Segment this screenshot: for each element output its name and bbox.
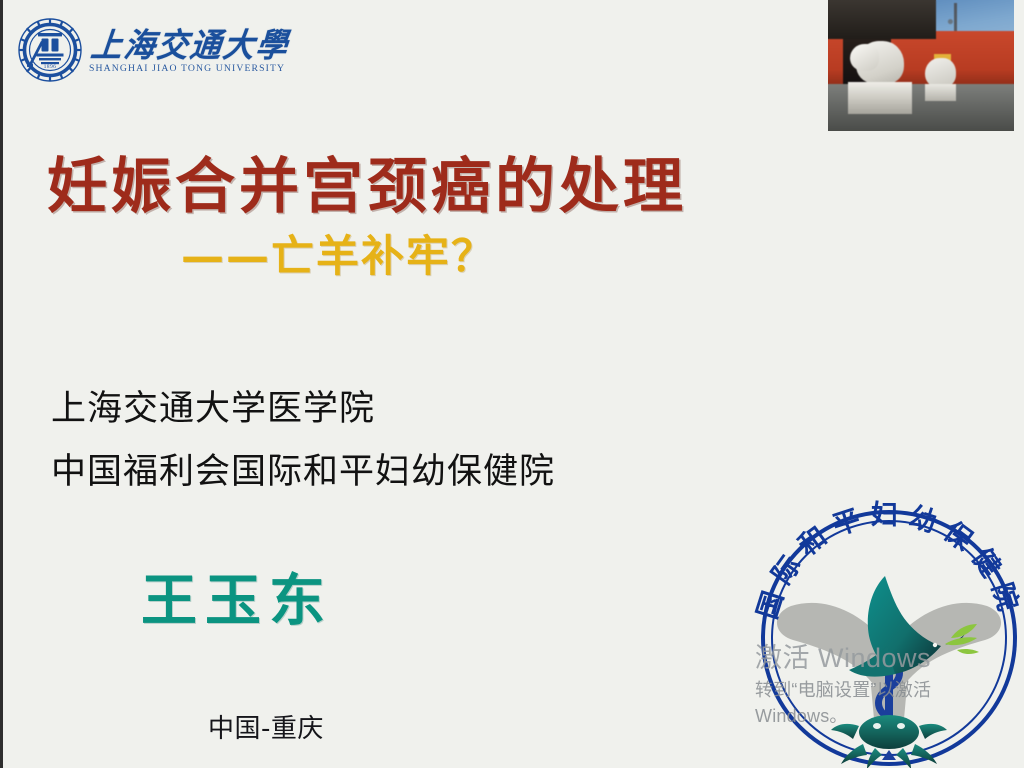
- university-name-cn: 上海交通大學: [89, 29, 291, 63]
- presentation-slide: 1896 上海交通大學 SHANGHAI JIAO TONG UNIVERSIT…: [0, 0, 1024, 768]
- temple-gate-stone-lions-photo: [828, 0, 1014, 131]
- svg-text:1896: 1896: [44, 64, 57, 70]
- event-location: 中国-重庆: [208, 708, 324, 745]
- affiliation-line-2: 中国福利会国际和平妇幼保健院: [51, 443, 555, 494]
- slide-title: 妊娠合并宫颈癌的处理: [47, 138, 807, 225]
- university-name-en: SHANGHAI JIAO TONG UNIVERSITY: [89, 64, 291, 74]
- university-wordmark: 上海交通大學 SHANGHAI JIAO TONG UNIVERSITY: [91, 26, 289, 75]
- hospital-logo: 国际和平妇幼保健院: [745, 498, 1024, 768]
- crab-icon: [831, 715, 947, 768]
- photo-blur-overlay: [828, 0, 1014, 131]
- slide-subtitle: ——亡羊补牢？: [181, 222, 881, 284]
- presenter-name: 王玉东: [141, 556, 333, 637]
- sjtu-gear-seal-icon: 1896: [17, 17, 83, 83]
- university-logo: 1896 上海交通大學 SHANGHAI JIAO TONG UNIVERSIT…: [17, 8, 279, 92]
- affiliation-line-1: 上海交通大学医学院: [51, 380, 375, 431]
